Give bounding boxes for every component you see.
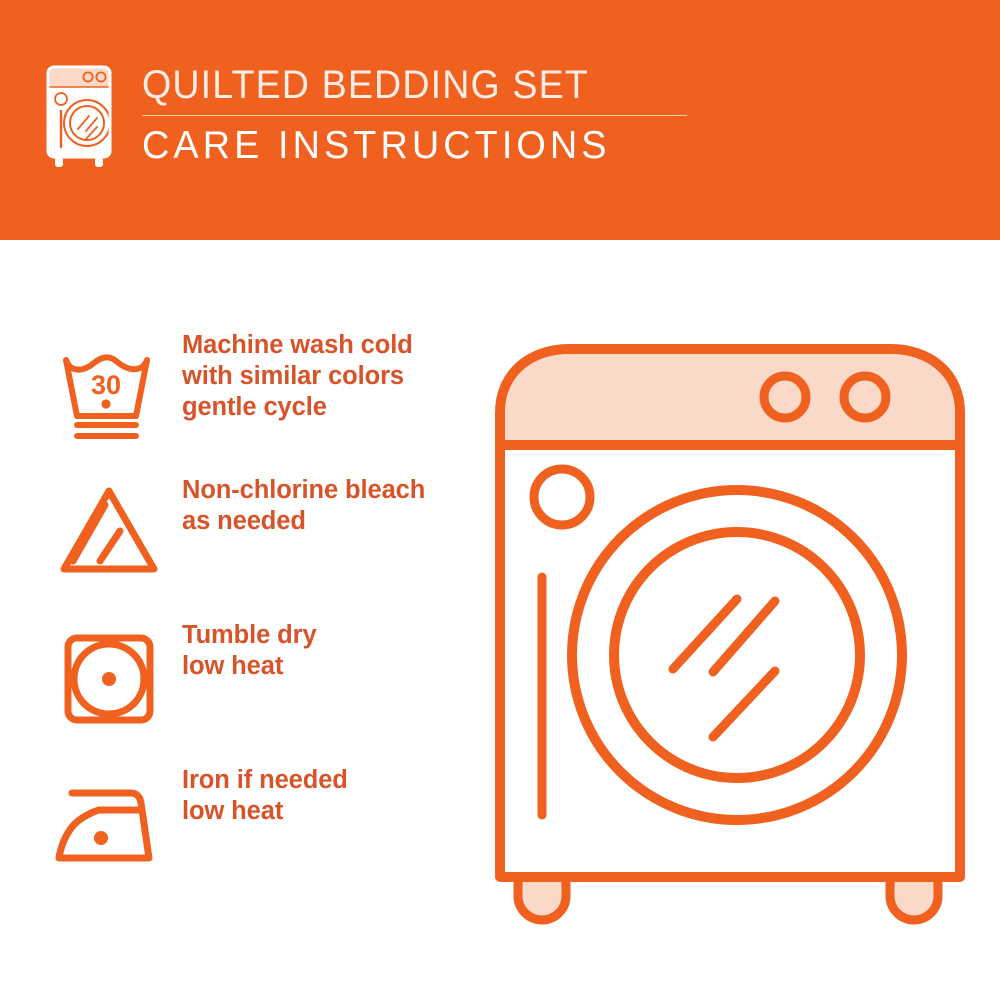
wash-tub-icon: 30 [44, 330, 174, 442]
header-banner: QUILTED BEDDING SET CARE INSTRUCTIONS [0, 0, 1000, 240]
care-instruction-list: 30 Machine wash cold with similar colors… [44, 330, 474, 910]
wash-temperature-label: 30 [91, 370, 121, 400]
washing-machine-icon [42, 63, 120, 167]
care-text-line: gentle cycle [182, 392, 413, 423]
care-item-text: Tumble dry low heat [174, 620, 317, 682]
care-text-line: as needed [182, 506, 425, 537]
care-text-line: with similar colors [182, 361, 413, 392]
care-item-tumble-dry: Tumble dry low heat [44, 620, 474, 765]
tumble-dry-icon [44, 620, 174, 728]
bleach-triangle-icon [44, 475, 174, 581]
care-text-line: low heat [182, 651, 317, 682]
care-item-iron: Iron if needed low heat [44, 765, 474, 910]
iron-icon [44, 765, 174, 879]
care-text-line: low heat [182, 796, 348, 827]
care-item-text: Machine wash cold with similar colors ge… [174, 330, 413, 423]
header-divider [142, 115, 687, 116]
care-text-line: Tumble dry [182, 620, 317, 651]
care-item-text: Non-chlorine bleach as needed [174, 475, 425, 537]
care-item-text: Iron if needed low heat [174, 765, 348, 827]
header-text-block: QUILTED BEDDING SET CARE INSTRUCTIONS [142, 62, 687, 168]
header-content: QUILTED BEDDING SET CARE INSTRUCTIONS [42, 62, 687, 168]
washing-machine-illustration [485, 325, 990, 945]
care-text-line: Iron if needed [182, 765, 348, 796]
care-text-line: Non-chlorine bleach [182, 475, 425, 506]
care-item-bleach: Non-chlorine bleach as needed [44, 475, 474, 620]
page-title: QUILTED BEDDING SET [142, 62, 654, 108]
page-subtitle: CARE INSTRUCTIONS [142, 123, 671, 168]
care-item-machine-wash: 30 Machine wash cold with similar colors… [44, 330, 474, 475]
care-text-line: Machine wash cold [182, 330, 413, 361]
